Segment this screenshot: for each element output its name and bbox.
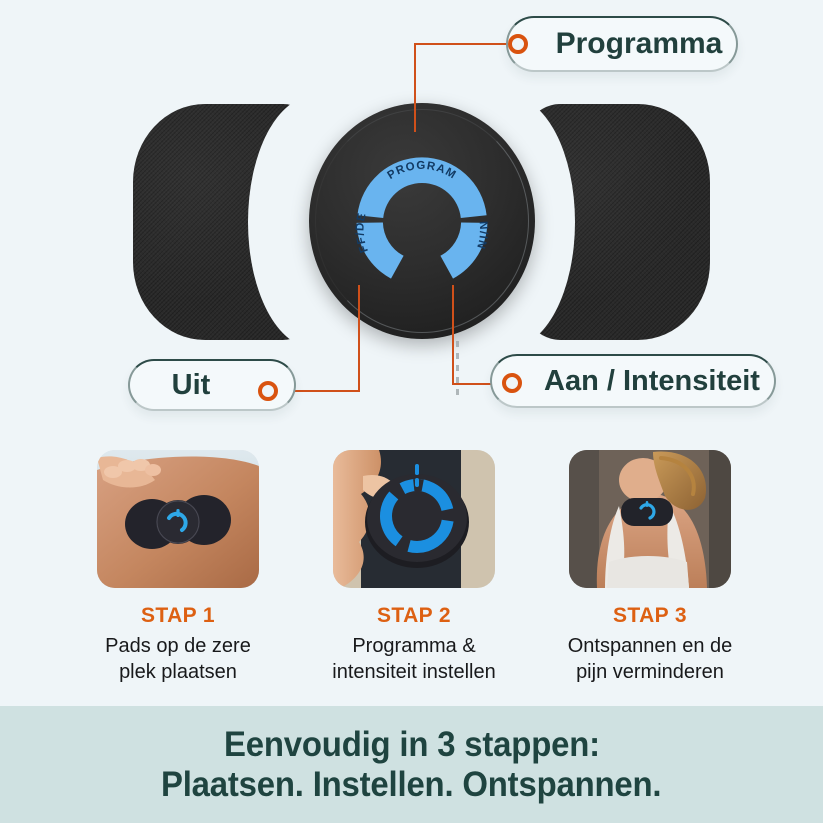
callout-aan-intensiteit[interactable]: Aan / Intensiteit <box>490 354 776 408</box>
steps-row: STAP 1 Pads op de zere plek plaatsen <box>0 444 823 684</box>
device-hero: PROGRAM OFF/DEC ON/INC Pro <box>0 0 823 430</box>
step-3-caption-line1: Ontspannen en de <box>568 635 733 657</box>
connector-programma-horizontal <box>414 43 516 45</box>
connector-aan-vertical <box>452 285 454 385</box>
step-card-2: STAP 2 Programma & intensiteit instellen <box>296 444 532 685</box>
ring-indicator-dashes <box>456 341 459 399</box>
step-card-3: STAP 3 Ontspannen en de pijn verminderen <box>532 444 768 685</box>
bottom-banner: Eenvoudig in 3 stappen: Plaatsen. Instel… <box>0 706 823 823</box>
promo-page: PROGRAM OFF/DEC ON/INC Pro <box>0 0 823 823</box>
callout-uit-marker <box>258 381 278 401</box>
callout-programma-marker <box>508 34 528 54</box>
step-1-caption-line1: Pads op de zere <box>105 635 251 657</box>
step-3-kicker: STAP 3 <box>532 604 768 628</box>
banner-line-2: Plaatsen. Instellen. Ontspannen. <box>161 765 661 804</box>
step-1-caption: Pads op de zere plek plaatsen <box>60 634 296 685</box>
step-2-caption-line1: Programma & <box>352 635 475 657</box>
step-2-caption-line2: intensiteit instellen <box>332 661 495 683</box>
step-1-caption-line2: plek plaatsen <box>119 661 237 683</box>
callout-uit-label: Uit <box>172 369 253 402</box>
step-3-image <box>569 450 731 588</box>
device-control-disc: PROGRAM OFF/DEC ON/INC <box>309 103 535 339</box>
step-1-kicker: STAP 1 <box>60 604 296 628</box>
connector-programma-vertical <box>414 43 416 132</box>
step-1-image <box>97 450 259 588</box>
step-card-1: STAP 1 Pads op de zere plek plaatsen <box>60 444 296 685</box>
step-2-caption: Programma & intensiteit instellen <box>296 634 532 685</box>
step-3-caption-line2: pijn verminderen <box>576 661 724 683</box>
control-ring: PROGRAM OFF/DEC ON/INC <box>345 145 499 299</box>
step-3-caption: Ontspannen en de pijn verminderen <box>532 634 768 685</box>
callout-programma[interactable]: Programma <box>506 16 738 72</box>
callout-aan-intensiteit-label: Aan / Intensiteit <box>506 365 760 398</box>
callout-programma-label: Programma <box>522 27 723 61</box>
step-2-image <box>333 450 495 588</box>
connector-uit-vertical <box>358 285 360 392</box>
step-2-kicker: STAP 2 <box>296 604 532 628</box>
callout-aan-intensiteit-marker <box>502 373 522 393</box>
banner-line-1: Eenvoudig in 3 stappen: <box>224 725 600 764</box>
